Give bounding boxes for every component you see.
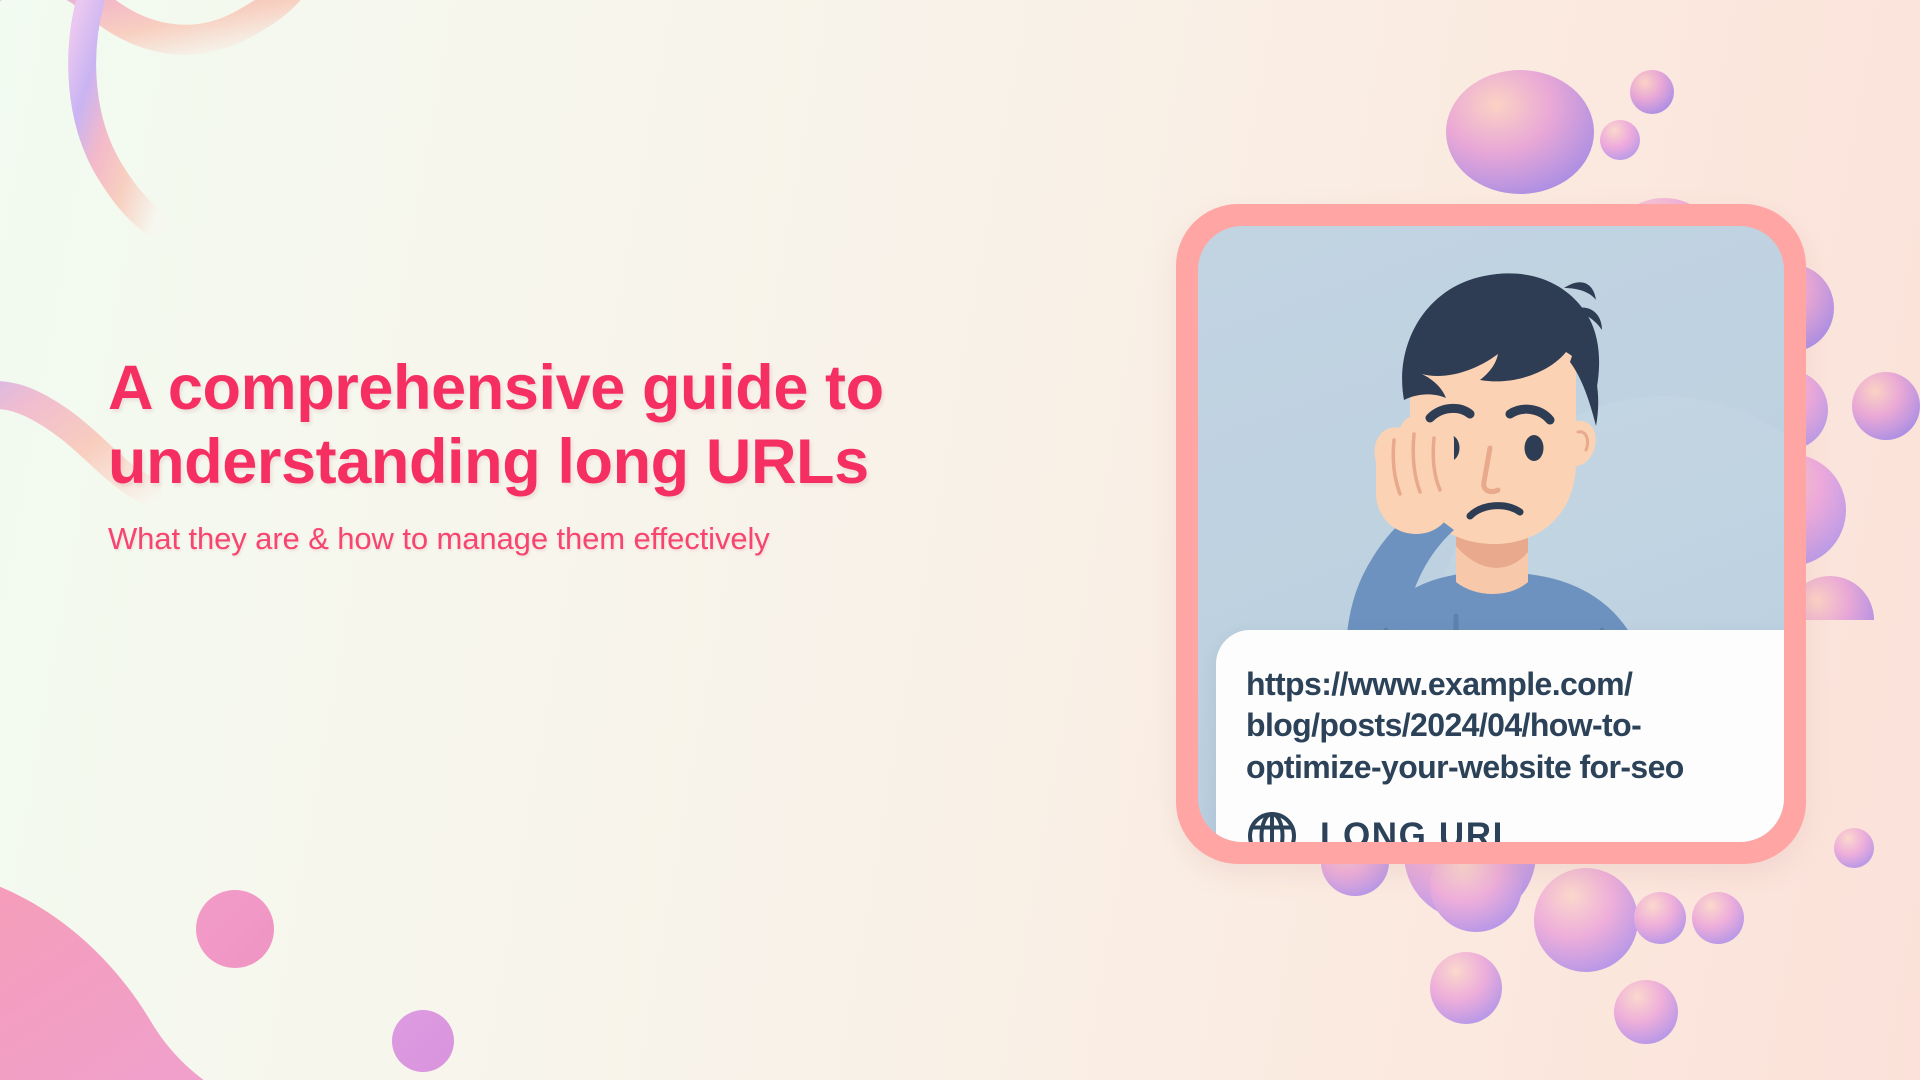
long-url-badge: LONG URL [1246,810,1784,842]
page-title: A comprehensive guide to understanding l… [108,352,988,499]
globe-icon [1246,810,1298,842]
long-url-panel: https://www.example.com/ blog/posts/2024… [1216,630,1784,842]
pink-blob-shape [0,830,440,1080]
url-line-3: optimize-your-website for-seo [1246,747,1784,788]
url-line-2: blog/posts/2024/04/how-to- [1246,705,1784,746]
gradient-ribbon-icon [0,0,360,260]
headline-line-2: understanding long URLs [108,426,988,500]
hero-copy: A comprehensive guide to understanding l… [108,352,988,557]
url-line-1: https://www.example.com/ [1246,664,1784,705]
page-subtitle: What they are & how to manage them effec… [108,521,988,557]
poster-canvas: A comprehensive guide to understanding l… [0,0,1920,1080]
illustration-frame: https://www.example.com/ blog/posts/2024… [1198,226,1784,842]
headline-line-1: A comprehensive guide to [108,352,988,426]
decorative-circle-small [392,1010,454,1072]
long-url-text: https://www.example.com/ blog/posts/2024… [1246,664,1784,788]
illustration-card: https://www.example.com/ blog/posts/2024… [1176,204,1806,864]
decorative-circle-large [196,890,274,968]
long-url-label: LONG URL [1320,816,1516,842]
